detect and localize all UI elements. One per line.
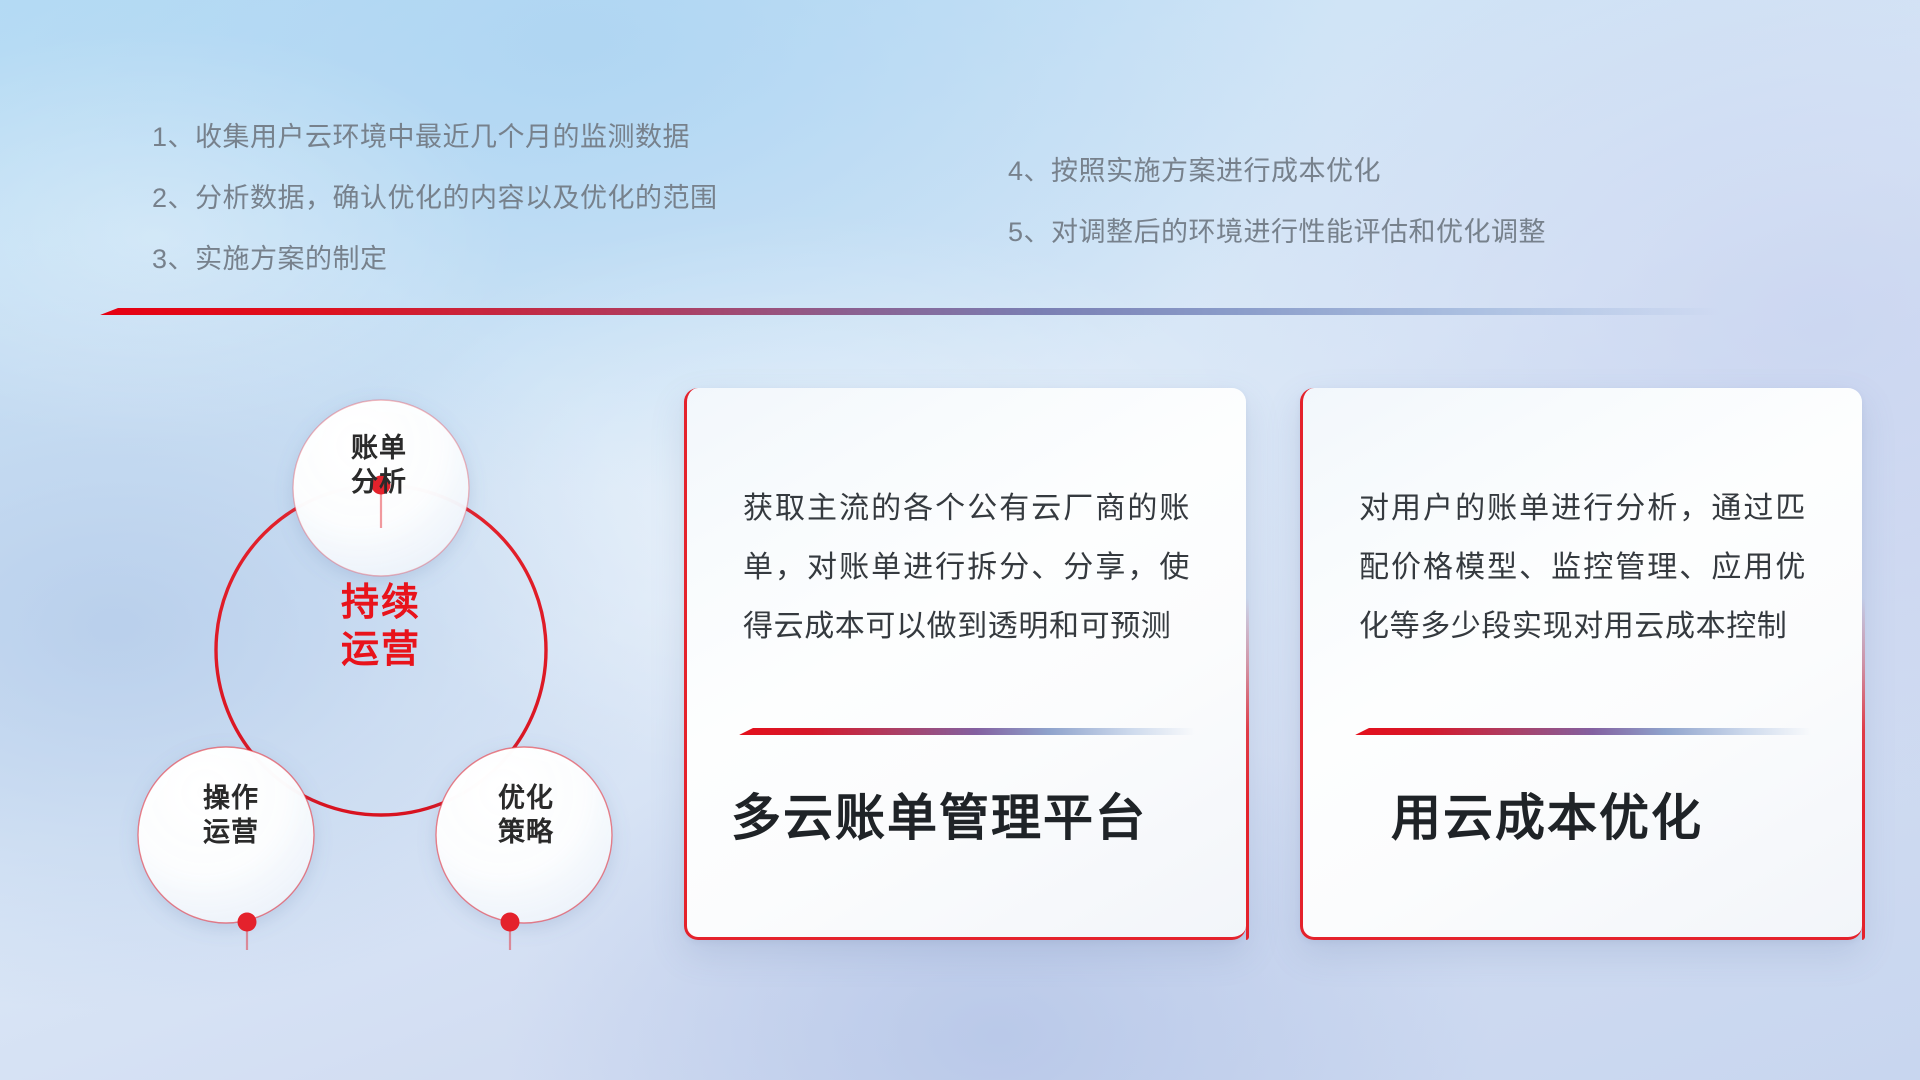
process-steps-right: 4、按照实施方案进行成本优化 5、对调整后的环境进行性能评估和优化调整 xyxy=(1008,158,1546,246)
card-cloud-cost-optimization-rule xyxy=(1355,728,1811,735)
card-cloud-cost-optimization-body: 对用户的账单进行分析，通过匹配价格模型、监控管理、应用优化等多少段实现对用云成本… xyxy=(1303,388,1862,656)
continuous-operation-cycle-diagram: 账单 分析 操作 运营 优化 策略 持续 运营 xyxy=(96,350,666,950)
process-step-2: 2、分析数据，确认优化的内容以及优化的范围 xyxy=(152,185,718,212)
card-cloud-cost-optimization[interactable]: 对用户的账单进行分析，通过匹配价格模型、监控管理、应用优化等多少段实现对用云成本… xyxy=(1300,388,1862,940)
process-step-4: 4、按照实施方案进行成本优化 xyxy=(1008,158,1546,185)
cycle-dot-right xyxy=(501,913,520,932)
header-divider xyxy=(100,308,1720,315)
card-billing-platform[interactable]: 获取主流的各个公有云厂商的账单，对账单进行拆分、分享，使得云成本可以做到透明和可… xyxy=(684,388,1246,940)
process-step-1: 1、收集用户云环境中最近几个月的监测数据 xyxy=(152,124,718,151)
process-step-5: 5、对调整后的环境进行性能评估和优化调整 xyxy=(1008,219,1546,246)
cycle-dot-left xyxy=(238,913,257,932)
process-steps-left: 1、收集用户云环境中最近几个月的监测数据 2、分析数据，确认优化的内容以及优化的… xyxy=(152,124,718,273)
card-billing-platform-rule xyxy=(739,728,1195,735)
card-billing-platform-title: 多云账单管理平台 xyxy=(731,788,1201,848)
cycle-node-bubble-left xyxy=(138,747,314,923)
card-billing-platform-body: 获取主流的各个公有云厂商的账单，对账单进行拆分、分享，使得云成本可以做到透明和可… xyxy=(687,388,1246,656)
cycle-dot-top xyxy=(372,476,391,495)
cycle-node-bubble-right xyxy=(436,747,612,923)
process-step-3: 3、实施方案的制定 xyxy=(152,246,718,273)
card-cloud-cost-optimization-title: 用云成本优化 xyxy=(1391,788,1861,848)
slide-canvas: 1、收集用户云环境中最近几个月的监测数据 2、分析数据，确认优化的内容以及优化的… xyxy=(0,0,1920,1080)
